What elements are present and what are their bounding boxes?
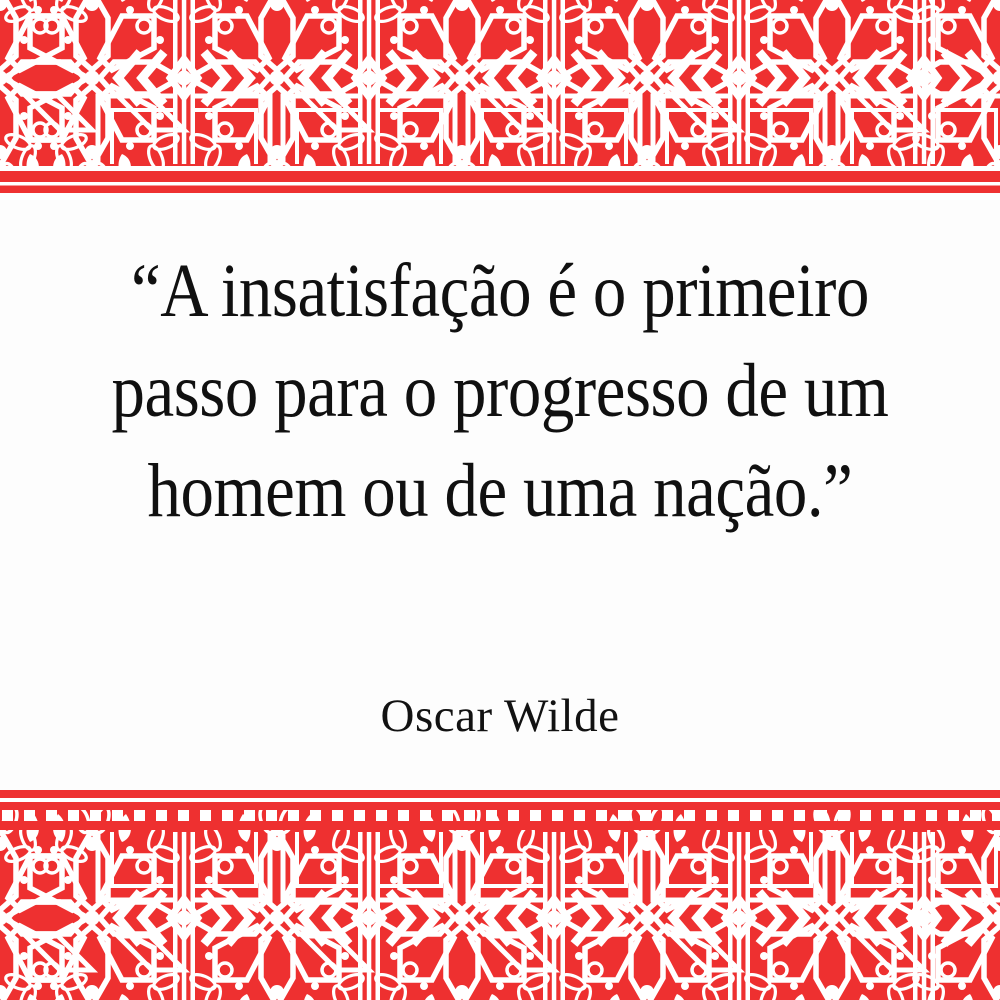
top-ornament-svg [0,0,1000,193]
quote-area: “A insatisfação é o primeiro passo para … [0,193,1000,790]
quote-text: “A insatisfação é o primeiro passo para … [67,241,933,541]
bottom-ornament-svg [0,790,1000,1000]
quote-author: Oscar Wilde [0,688,1000,744]
top-ornament-band [0,0,1000,193]
quote-card: “A insatisfação é o primeiro passo para … [0,0,1000,1000]
bottom-ornament-band [0,790,1000,1000]
